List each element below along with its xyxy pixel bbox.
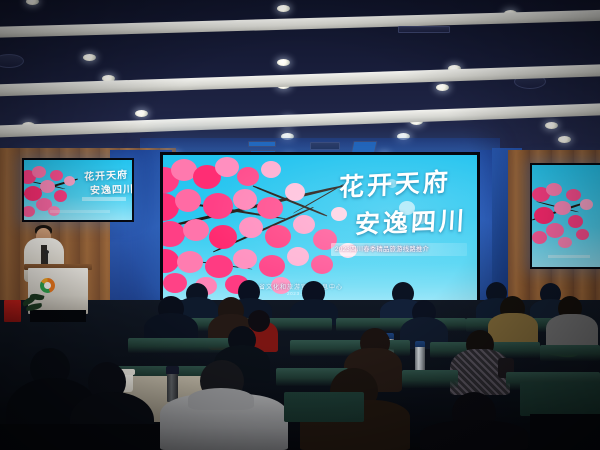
left-side-monitor-screen: 花开天府 安逸四川 xyxy=(24,160,132,220)
left-monitor-headline-2: 安逸四川 xyxy=(90,180,132,197)
red-sign xyxy=(4,300,21,322)
downlight xyxy=(277,59,290,66)
table-surface xyxy=(284,392,364,422)
main-headline-line-2: 安逸四川 xyxy=(354,201,468,241)
downlight xyxy=(558,136,571,143)
thermos-flask xyxy=(415,345,425,373)
air-vent xyxy=(398,26,450,33)
podium-emblem-inner-icon xyxy=(44,282,51,289)
air-vent xyxy=(248,141,276,147)
downlight xyxy=(436,84,449,91)
conference-hall-photo: 花开天府 安逸四川 xyxy=(0,0,600,450)
thermos-cap xyxy=(415,341,425,347)
attendee-tan-coat xyxy=(488,313,538,345)
air-vent xyxy=(310,142,340,150)
table-surface xyxy=(520,382,600,416)
downlight xyxy=(83,54,96,61)
attendee xyxy=(420,420,528,450)
seat-back-foreground xyxy=(0,424,160,450)
downlight xyxy=(277,5,290,12)
seat-row xyxy=(402,370,458,388)
main-headline-line-1: 花开天府 xyxy=(338,162,451,204)
main-led-wall: 花开天府 安逸四川 2023四川春季精品旅游线路推介 四川省文化和旅游宣传信息中… xyxy=(163,155,477,301)
stage-plant xyxy=(22,292,48,314)
right-side-monitor-screen xyxy=(532,165,600,267)
downlight xyxy=(545,122,558,129)
seat-back-foreground xyxy=(530,414,600,450)
main-subtitle: 2023四川春季精品旅游线路推介 xyxy=(335,244,469,253)
microphone-head xyxy=(44,250,49,254)
attendee-grey-coat xyxy=(546,314,598,348)
seat-row xyxy=(540,345,600,361)
thermos-cap xyxy=(166,366,179,374)
hoodie-hood xyxy=(188,388,254,410)
downlight xyxy=(135,110,148,117)
